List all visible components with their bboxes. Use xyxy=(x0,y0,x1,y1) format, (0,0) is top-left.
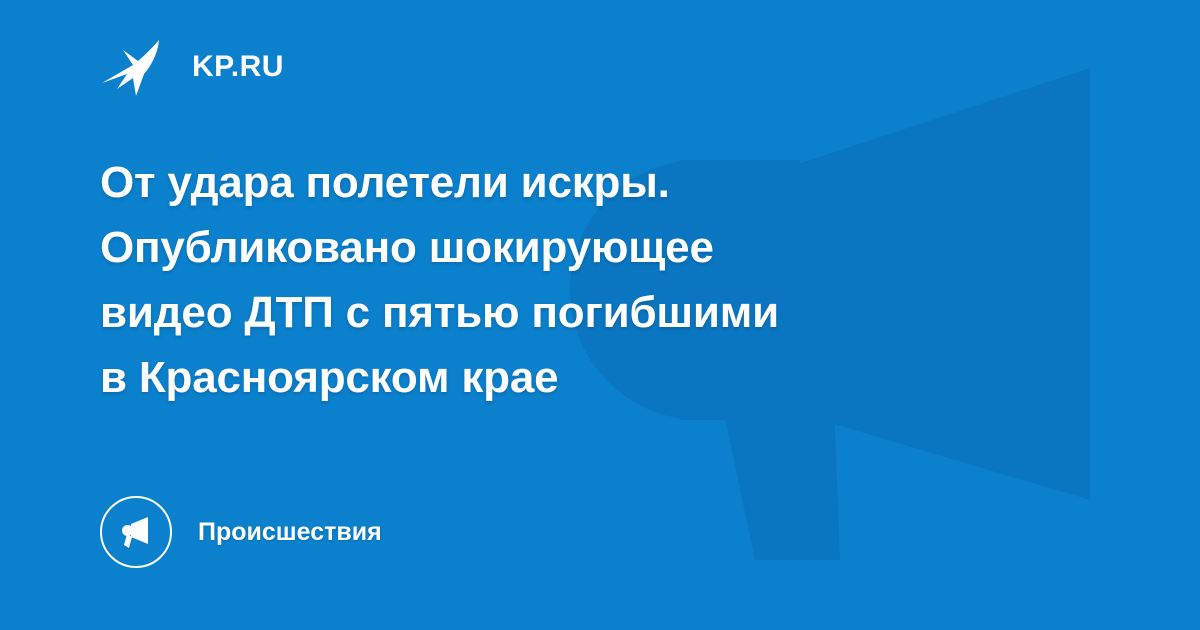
brand-row[interactable]: KP.RU xyxy=(100,36,1100,98)
swallow-bird-icon xyxy=(100,38,172,96)
social-share-card: KP.RU От удара полетели искры. Опубликов… xyxy=(0,0,1200,630)
page-title: От удара полетели искры. Опубликовано шо… xyxy=(100,150,1040,410)
headline-line-3: видео ДТП с пятью погибшими xyxy=(100,280,1040,345)
brand-name: KP.RU xyxy=(192,52,284,82)
headline-line-2: Опубликовано шокирующее xyxy=(100,215,1040,280)
headline-line-1: От удара полетели искры. xyxy=(100,150,1040,215)
card-content: KP.RU От удара полетели искры. Опубликов… xyxy=(0,0,1200,630)
headline-line-4: в Красноярском крае xyxy=(100,345,1040,410)
